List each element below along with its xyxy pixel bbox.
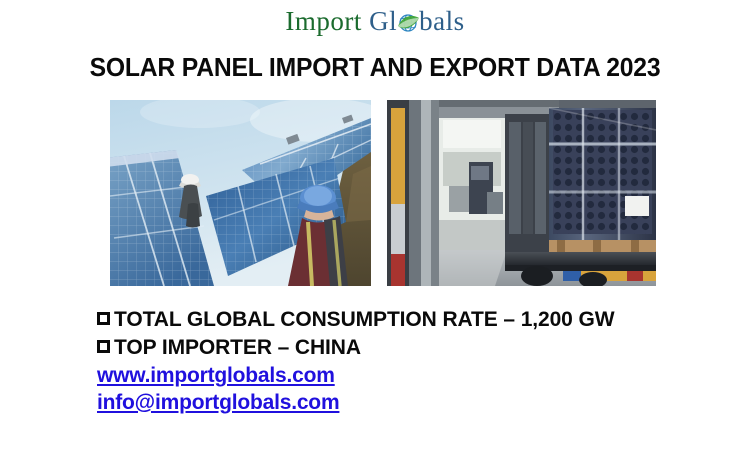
website-link[interactable]: www.importglobals.com xyxy=(97,362,717,389)
fact-text-top-importer: TOP IMPORTER – CHINA xyxy=(114,336,361,359)
fact-text-consumption: TOTAL GLOBAL CONSUMPTION RATE – 1,200 GW xyxy=(114,308,614,331)
page-title: SOLAR PANEL IMPORT AND EXPORT DATA 2023 xyxy=(19,52,732,83)
globe-icon xyxy=(396,11,420,35)
email-link[interactable]: info@importglobals.com xyxy=(97,389,717,416)
brand-name-import: Import xyxy=(285,6,362,36)
brand-name-gl: Gl xyxy=(369,6,397,36)
fact-line-top-importer: TOP IMPORTER – CHINA xyxy=(97,334,717,362)
square-bullet-icon xyxy=(97,340,110,353)
solar-panel-truck-loading-photo xyxy=(387,100,656,286)
square-bullet-icon xyxy=(97,312,110,325)
brand-name-bals: bals xyxy=(419,6,465,36)
fact-line-consumption: TOTAL GLOBAL CONSUMPTION RATE – 1,200 GW xyxy=(97,306,717,334)
photo-row xyxy=(110,100,656,286)
solar-panel-farm-photo xyxy=(110,100,371,286)
slide-canvas: Import Gl bals SOLAR PANEL IMPORT AND EX… xyxy=(0,0,750,450)
brand-logo: Import Gl bals xyxy=(0,6,750,36)
info-block: TOTAL GLOBAL CONSUMPTION RATE – 1,200 GW… xyxy=(97,306,717,416)
